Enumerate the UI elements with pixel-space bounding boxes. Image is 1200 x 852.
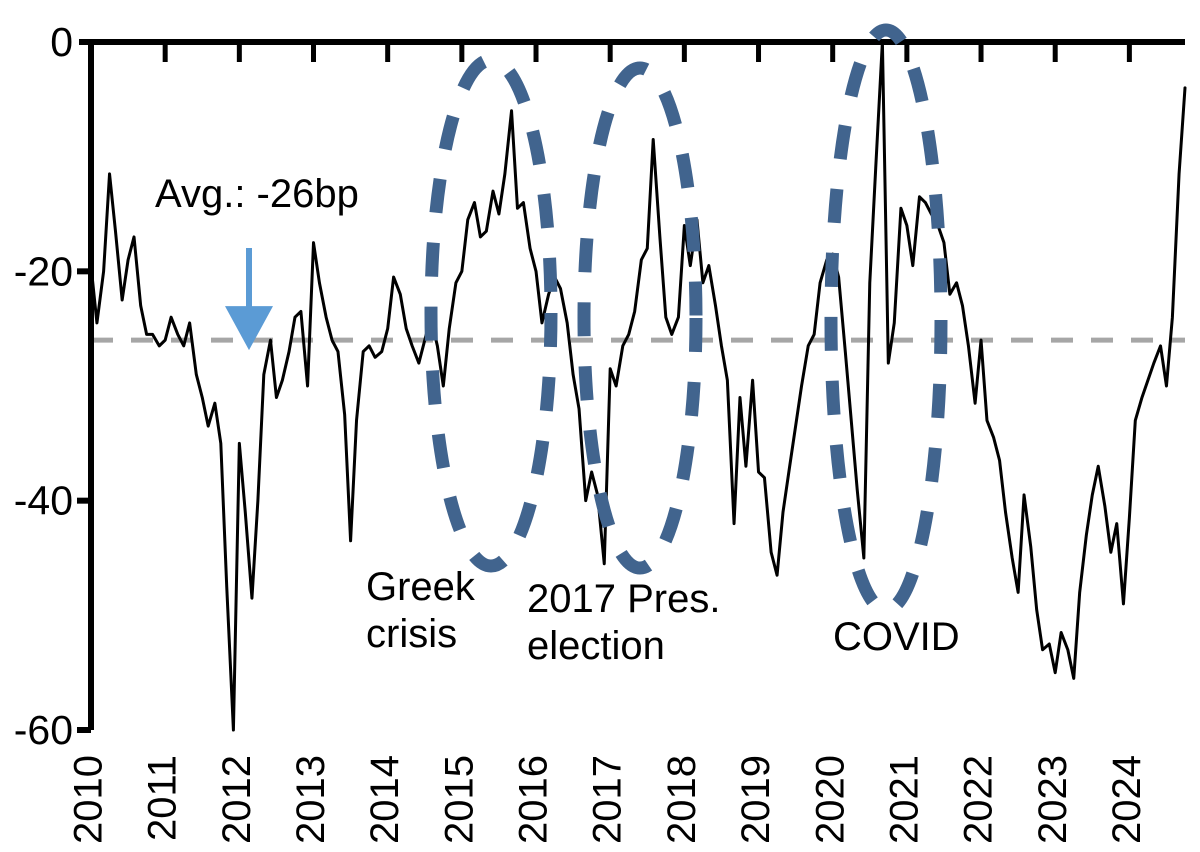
annotation-line-1: 2017 Pres. xyxy=(527,577,720,621)
x-tick-label: 2014 xyxy=(363,755,407,844)
x-tick-label: 2018 xyxy=(660,755,704,844)
line-chart: 0-20-40-60 20102011201220132014201520162… xyxy=(0,0,1200,852)
x-tick-label: 2013 xyxy=(289,755,333,844)
x-tick-label: 2021 xyxy=(882,755,926,844)
x-tick-label: 2011 xyxy=(141,755,185,841)
avg-annotation: Avg.: -26bp xyxy=(155,172,359,216)
y-tick-label: -40 xyxy=(14,478,73,524)
chart-container: 0-20-40-60 20102011201220132014201520162… xyxy=(0,0,1200,852)
annotation-line-1: COVID xyxy=(833,615,960,659)
x-tick-label: 2016 xyxy=(512,755,556,844)
y-tick-label: 0 xyxy=(50,19,73,65)
annotation-line-2: election xyxy=(527,624,665,668)
y-tick-label: -20 xyxy=(14,248,73,294)
y-tick-label: -60 xyxy=(14,707,73,753)
x-tick-label: 2024 xyxy=(1105,755,1149,844)
x-tick-label: 2020 xyxy=(808,755,852,844)
x-tick-label: 2012 xyxy=(215,755,259,844)
covid-annotation: COVID xyxy=(833,615,960,659)
annotation-line-1: Greek xyxy=(366,565,476,609)
x-tick-label: 2010 xyxy=(67,755,111,844)
x-tick-label: 2023 xyxy=(1031,755,1075,844)
annotation-line-2: crisis xyxy=(366,612,457,656)
x-tick-label: 2015 xyxy=(437,755,481,844)
x-axis-tick-labels: 2010201120122013201420152016201720182019… xyxy=(67,755,1149,844)
x-tick-label: 2017 xyxy=(586,755,630,844)
x-tick-label: 2019 xyxy=(734,755,778,844)
x-tick-label: 2022 xyxy=(957,755,1001,844)
